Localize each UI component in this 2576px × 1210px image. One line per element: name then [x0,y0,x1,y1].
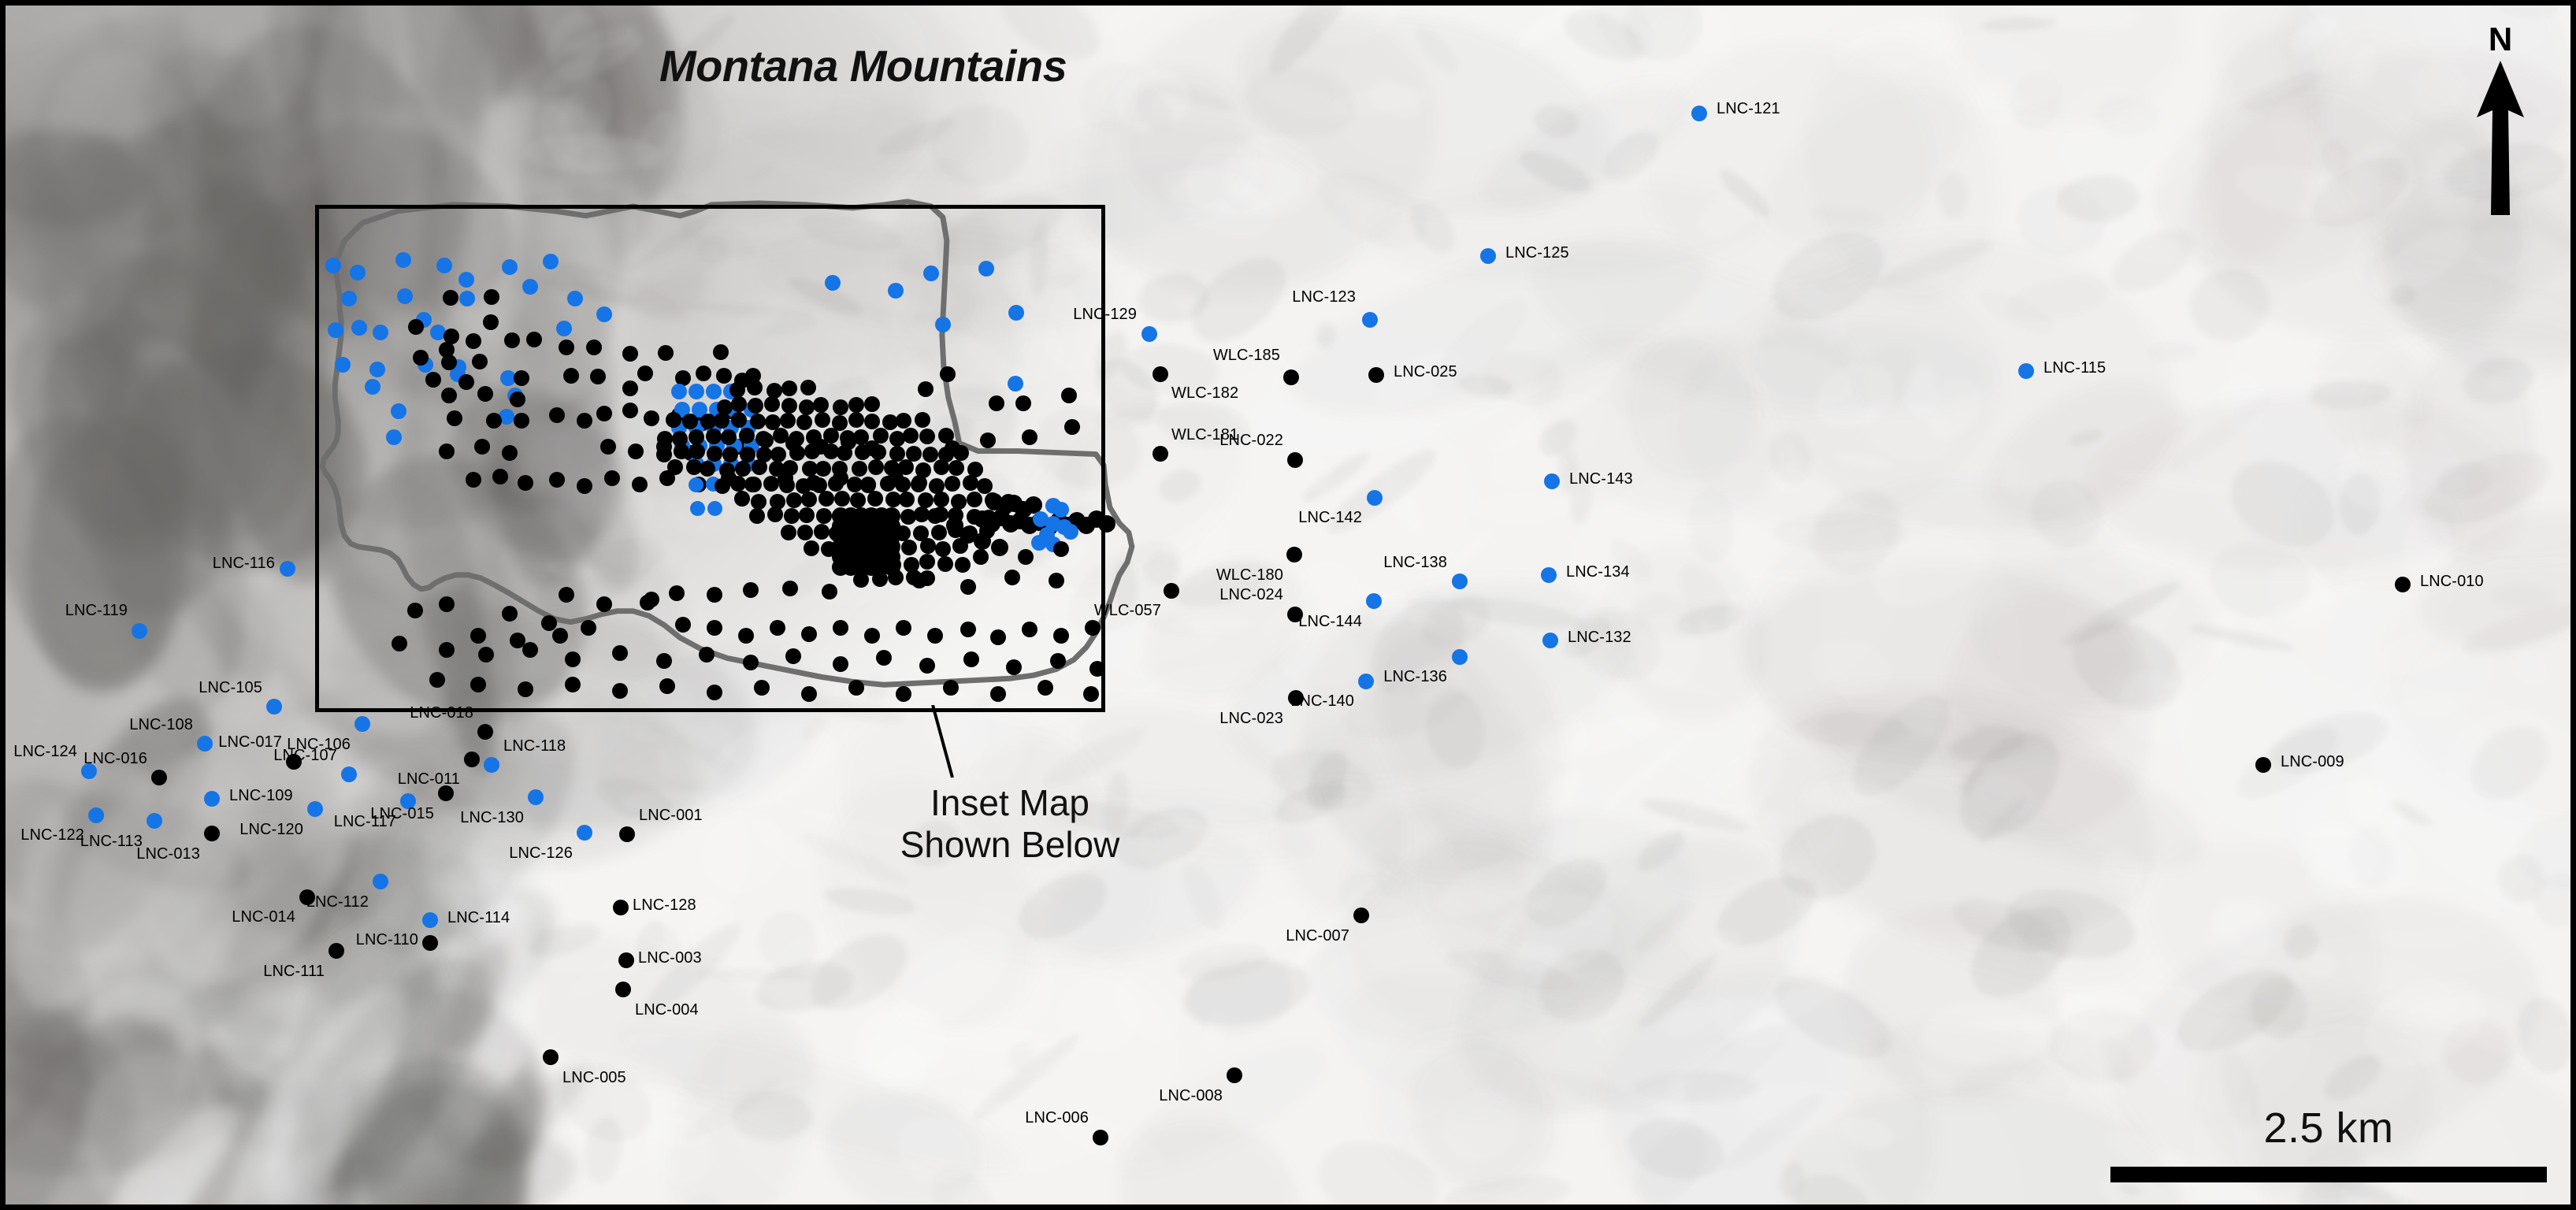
drill-collar-blue[interactable] [132,623,147,639]
drill-collar-black[interactable] [770,620,785,636]
drill-collar-black[interactable] [948,460,964,476]
drill-collar-blue[interactable] [341,291,357,306]
drill-collar-blue[interactable] [373,874,388,889]
drill-collar-black[interactable] [674,444,689,459]
drill-collar-black[interactable] [472,354,488,369]
drill-collar-black[interactable] [439,642,455,658]
drill-collar-black[interactable] [743,655,759,670]
drill-collar-black[interactable] [675,617,691,633]
drill-hole-label: LNC-108 [129,717,193,733]
drill-collar-black[interactable] [750,414,766,429]
drill-collar-black[interactable] [919,658,935,674]
drill-collar-black[interactable] [658,345,674,361]
drill-collar-black[interactable] [151,770,167,785]
drill-collar-black[interactable] [816,508,832,524]
drill-hole-label: LNC-121 [1717,101,1780,117]
drill-collar-black[interactable] [659,678,675,694]
scale-bar: 2.5 km [2110,1107,2547,1182]
drill-collar-blue[interactable] [502,259,518,275]
drill-collar-blue[interactable] [266,699,282,714]
drill-collar-black[interactable] [789,445,805,461]
drill-collar-black[interactable] [622,403,638,418]
drill-collar-blue[interactable] [422,912,438,928]
drill-collar-black[interactable] [407,603,423,618]
drill-collar-black[interactable] [815,461,831,477]
drill-collar-black[interactable] [700,461,715,477]
drill-collar-black[interactable] [990,629,1006,645]
drill-collar-black[interactable] [945,440,960,456]
drill-collar-black[interactable] [832,461,848,477]
drill-collar-blue[interactable] [1053,502,1069,518]
drill-collar-black[interactable] [880,510,896,525]
drill-collar-black[interactable] [943,680,959,696]
drill-collar-blue[interactable] [528,789,544,805]
drill-collar-black[interactable] [801,492,817,507]
drill-collar-black[interactable] [799,507,815,523]
drill-collar-black[interactable] [466,472,481,488]
drill-hole-label: LNC-110 [356,932,418,948]
drill-collar-blue[interactable] [88,807,104,823]
drill-hole-label: WLC-057 [1094,603,1161,618]
drill-collar-blue[interactable] [1362,312,1378,328]
north-arrow: N [2465,23,2536,228]
drill-collar-black[interactable] [612,683,628,699]
drill-collar-blue[interactable] [567,291,583,306]
drill-collar-black[interactable] [754,680,770,696]
drill-collar-black[interactable] [946,517,963,534]
drill-collar-black[interactable] [543,1049,559,1065]
drill-collar-blue[interactable] [307,801,323,817]
drill-collar-blue[interactable] [825,275,841,291]
drill-collar-black[interactable] [806,429,822,445]
drill-collar-blue[interactable] [2018,363,2034,379]
drill-collar-blue[interactable] [923,265,939,281]
drill-collar-black[interactable] [470,677,486,692]
drill-collar-black[interactable] [596,406,612,421]
drill-collar-black[interactable] [699,647,715,663]
drill-collar-black[interactable] [837,445,852,461]
drill-collar-black[interactable] [429,672,445,688]
drill-collar-blue[interactable] [386,429,402,445]
drill-collar-blue[interactable] [671,384,687,399]
drill-hole-label: LNC-025 [1394,364,1457,380]
drill-collar-black[interactable] [510,392,525,407]
drill-collar-black[interactable] [915,412,930,428]
drill-collar-black[interactable] [466,333,481,349]
drill-collar-black[interactable] [559,340,574,355]
drill-collar-blue[interactable] [689,384,704,399]
drill-collar-black[interactable] [801,686,817,702]
drill-collar-black[interactable] [813,397,829,413]
drill-collar-black[interactable] [781,525,796,540]
drill-collar-black[interactable] [477,724,493,740]
drill-collar-black[interactable] [637,366,653,381]
drill-collar-black[interactable] [1053,541,1069,557]
drill-collar-black[interactable] [1037,680,1053,696]
drill-collar-black[interactable] [789,431,804,447]
drill-collar-black[interactable] [739,428,755,444]
drill-collar-black[interactable] [876,650,892,666]
drill-collar-black[interactable] [852,461,867,477]
drill-collar-black[interactable] [522,642,538,658]
drill-collar-black[interactable] [767,507,783,522]
drill-collar-black[interactable] [818,491,834,507]
drill-collar-black[interactable] [740,447,755,462]
drill-collar-blue[interactable] [543,254,559,269]
drill-collar-black[interactable] [422,935,438,951]
drill-collar-black[interactable] [1004,570,1020,585]
drill-hole-label: LNC-140 [1290,693,1354,709]
drill-collar-black[interactable] [731,412,747,428]
drill-collar-black[interactable] [2395,577,2411,592]
drill-collar-black[interactable] [960,622,976,637]
drill-collar-black[interactable] [781,398,797,414]
drill-collar-black[interactable] [1286,547,1302,562]
drill-collar-black[interactable] [477,386,493,402]
drill-collar-black[interactable] [600,439,616,455]
drill-collar-black[interactable] [934,492,949,507]
drill-collar-black[interactable] [1227,1067,1242,1083]
drill-collar-black[interactable] [716,368,732,384]
drill-collar-black[interactable] [927,508,943,524]
drill-collar-blue[interactable] [458,272,474,288]
drill-collar-black[interactable] [1022,429,1037,445]
drill-collar-blue[interactable] [328,322,343,338]
drill-collar-black[interactable] [622,380,638,396]
drill-collar-black[interactable] [940,366,956,382]
drill-collar-blue[interactable] [397,288,413,304]
drill-collar-black[interactable] [989,395,1004,411]
drill-collar-blue[interactable] [689,477,703,492]
drill-collar-black[interactable] [781,380,797,396]
drill-collar-black[interactable] [640,595,655,611]
drill-collar-black[interactable] [615,982,631,997]
drill-collar-black[interactable] [549,472,565,488]
drill-collar-blue[interactable] [522,279,538,295]
drill-collar-blue[interactable] [1691,106,1707,121]
drill-collar-black[interactable] [898,459,914,475]
drill-collar-blue[interactable] [484,757,499,773]
drill-collar-black[interactable] [613,900,629,915]
drill-collar-blue[interactable] [935,317,951,332]
drill-collar-black[interactable] [833,399,848,415]
drill-collar-black[interactable] [656,653,672,669]
drill-collar-black[interactable] [833,620,848,636]
drill-collar-blue[interactable] [197,736,213,752]
drill-collar-blue[interactable] [978,261,994,277]
drill-collar-blue[interactable] [1367,490,1383,506]
drill-hole-label: LNC-142 [1298,510,1362,525]
drill-collar-blue[interactable] [706,384,722,399]
drill-collar-black[interactable] [502,606,518,622]
drill-collar-blue[interactable] [1452,649,1468,665]
drill-collar-black[interactable] [1018,549,1034,565]
drill-collar-blue[interactable] [577,825,592,841]
drill-collar-black[interactable] [1085,620,1101,636]
drill-collar-blue[interactable] [690,501,705,516]
drill-collar-blue[interactable] [1544,473,1560,489]
drill-collar-black[interactable] [474,439,490,455]
drill-collar-blue[interactable] [373,325,388,340]
drill-collar-black[interactable] [1089,661,1105,677]
drill-collar-blue[interactable] [395,252,411,268]
drill-collar-black[interactable] [1064,419,1080,435]
drill-collar-blue[interactable] [350,265,366,280]
drill-collar-blue[interactable] [1366,593,1382,609]
drill-collar-black[interactable] [748,398,763,414]
drill-collar-black[interactable] [667,459,683,475]
drill-collar-black[interactable] [447,410,462,426]
drill-collar-black[interactable] [713,344,729,360]
drill-collar-black[interactable] [1006,659,1022,675]
drill-collar-black[interactable] [604,470,620,486]
drill-collar-black[interactable] [864,628,880,644]
drill-collar-black[interactable] [707,446,722,462]
drill-collar-black[interactable] [1083,686,1099,702]
drill-collar-black[interactable] [927,628,943,644]
drill-collar-black[interactable] [596,596,612,612]
drill-collar-black[interactable] [484,289,499,305]
drill-collar-black[interactable] [743,582,759,598]
drill-collar-black[interactable] [518,475,533,491]
drill-collar-blue[interactable] [1141,326,1157,342]
drill-collar-black[interactable] [1022,622,1037,637]
drill-collar-black[interactable] [1153,366,1168,382]
drill-collar-black[interactable] [797,525,813,540]
drill-collar-black[interactable] [920,538,936,554]
drill-collar-black[interactable] [991,539,1008,556]
drill-collar-blue[interactable] [1031,535,1047,551]
drill-collar-black[interactable] [502,445,518,461]
drill-collar-black[interactable] [486,413,502,429]
drill-collar-black[interactable] [1015,395,1031,411]
drill-collar-black[interactable] [833,656,848,672]
drill-collar-blue[interactable] [204,791,220,807]
drill-collar-black[interactable] [799,399,815,415]
drill-collar-black[interactable] [413,350,429,366]
drill-collar-black[interactable] [873,428,889,444]
drill-collar-blue[interactable] [1542,633,1558,648]
drill-collar-black[interactable] [689,429,704,445]
drill-collar-black[interactable] [864,414,880,429]
drill-collar-black[interactable] [785,648,801,664]
drill-collar-black[interactable] [696,366,711,381]
drill-hole-label: LNC-018 [410,705,473,721]
drill-collar-black[interactable] [552,628,568,644]
drill-collar-blue[interactable] [888,283,904,299]
drill-collar-blue[interactable] [1541,567,1557,583]
drill-collar-black[interactable] [973,549,989,565]
drill-collar-black[interactable] [577,413,592,429]
drill-collar-black[interactable] [782,581,798,596]
inset-map-callout: Inset Map Shown Below [900,782,1120,866]
drill-collar-blue[interactable] [1480,248,1496,264]
drill-collar-black[interactable] [782,460,798,476]
drill-collar-black[interactable] [565,677,581,692]
drill-collar-black[interactable] [559,587,574,603]
drill-collar-black[interactable] [1098,515,1115,533]
drill-collar-blue[interactable] [369,362,385,377]
drill-collar-black[interactable] [744,477,760,492]
drill-collar-black[interactable] [963,651,979,667]
drill-collar-black[interactable] [669,585,685,601]
drill-collar-black[interactable] [1283,369,1299,385]
drill-collar-black[interactable] [1093,1130,1108,1145]
drill-collar-black[interactable] [814,524,830,540]
drill-collar-black[interactable] [867,491,883,507]
drill-collar-blue[interactable] [707,501,722,516]
drill-collar-black[interactable] [1061,388,1077,403]
drill-collar-black[interactable] [734,491,750,507]
drill-collar-blue[interactable] [1452,573,1468,589]
drill-collar-black[interactable] [204,826,220,841]
drill-collar-black[interactable] [563,368,579,384]
drill-collar-black[interactable] [896,620,911,636]
drill-collar-blue[interactable] [280,561,295,577]
drill-collar-black[interactable] [752,459,767,475]
drill-collar-black[interactable] [980,432,996,448]
drill-collar-black[interactable] [439,444,455,459]
drill-collar-blue[interactable] [325,258,341,273]
drill-collar-blue[interactable] [556,321,572,336]
drill-hole-label: LNC-001 [639,807,703,823]
drill-collar-blue[interactable] [1008,376,1023,392]
drill-collar-black[interactable] [439,596,455,612]
drill-collar-black[interactable] [612,645,628,661]
drill-collar-black[interactable] [764,396,780,412]
drill-collar-blue[interactable] [1358,674,1374,689]
drill-collar-black[interactable] [478,647,494,663]
drill-collar-black[interactable] [745,368,761,384]
drill-collar-black[interactable] [967,492,982,507]
drill-collar-black[interactable] [408,319,424,335]
drill-hole-label: LNC-013 [136,846,200,862]
drill-collar-black[interactable] [1368,367,1384,383]
drill-collar-black[interactable] [715,478,730,494]
drill-collar-blue[interactable] [365,379,380,395]
drill-collar-black[interactable] [632,477,648,492]
drill-collar-black[interactable] [801,626,817,642]
drill-collar-black[interactable] [779,477,795,493]
drill-collar-black[interactable] [934,459,949,475]
drill-collar-black[interactable] [773,428,789,444]
drill-hole-label: LNC-114 [447,910,510,926]
drill-collar-black[interactable] [780,413,796,429]
drill-collar-black[interactable] [884,460,900,476]
drill-collar-blue[interactable] [436,258,452,273]
scale-bar-label: 2.5 km [2110,1107,2547,1149]
drill-collar-black[interactable] [896,686,911,702]
drill-collar-black[interactable] [565,651,581,667]
drill-collar-blue[interactable] [147,813,162,829]
drill-collar-black[interactable] [945,476,960,492]
drill-collar-black[interactable] [1153,446,1168,462]
drill-collar-black[interactable] [918,381,934,397]
drill-collar-black[interactable] [883,559,900,576]
drill-collar-black[interactable] [590,369,606,384]
drill-collar-black[interactable] [577,478,592,494]
drill-hole-label: LNC-005 [562,1070,626,1086]
inset-callout-line1: Inset Map [900,782,1120,824]
drill-collar-black[interactable] [622,346,638,362]
drill-collar-blue[interactable] [354,716,370,732]
drill-collar-black[interactable] [1287,452,1303,468]
drill-hole-label: LNC-006 [1025,1110,1089,1126]
drill-collar-black[interactable] [619,826,635,842]
drill-collar-black[interactable] [328,943,344,959]
drill-collar-black[interactable] [392,636,407,651]
drill-collar-blue[interactable] [459,291,475,306]
drill-collar-black[interactable] [848,680,864,696]
drill-collar-black[interactable] [714,413,729,429]
drill-collar-black[interactable] [1049,573,1064,588]
drill-collar-black[interactable] [526,332,542,347]
drill-collar-blue[interactable] [351,320,367,336]
drill-collar-black[interactable] [483,314,499,330]
drill-collar-blue[interactable] [391,403,406,419]
drill-collar-black[interactable] [492,469,508,484]
drill-collar-black[interactable] [2255,757,2271,773]
drill-collar-black[interactable] [784,508,800,524]
drill-collar-black[interactable] [458,374,474,390]
drill-collar-black[interactable] [464,752,480,767]
drill-collar-black[interactable] [1164,583,1179,599]
drill-collar-black[interactable] [425,372,441,388]
drill-collar-black[interactable] [644,410,659,426]
drill-collar-black[interactable] [899,492,915,507]
drill-collar-black[interactable] [618,952,634,968]
drill-collar-black[interactable] [514,413,529,429]
drill-collar-black[interactable] [504,332,520,348]
drill-collar-black[interactable] [911,573,927,588]
drill-collar-black[interactable] [1050,653,1066,669]
drill-collar-black[interactable] [441,354,457,370]
drill-collar-black[interactable] [657,431,673,447]
drill-collar-black[interactable] [586,340,602,355]
drill-collar-blue[interactable] [1008,305,1024,321]
drill-collar-black[interactable] [963,475,978,491]
drill-collar-black[interactable] [911,477,926,492]
drill-hole-label: LNC-126 [509,845,573,861]
drill-collar-black[interactable] [1053,628,1069,644]
drill-collar-blue[interactable] [335,357,351,373]
drill-collar-black[interactable] [438,785,454,801]
drill-collar-black[interactable] [707,620,722,636]
drill-collar-black[interactable] [707,685,722,700]
drill-collar-black[interactable] [880,476,896,492]
drill-collar-black[interactable] [864,396,880,412]
drill-collar-black[interactable] [443,290,458,306]
drill-collar-black[interactable] [549,407,565,423]
drill-collar-blue[interactable] [341,766,357,782]
drill-collar-black[interactable] [1353,907,1369,923]
drill-collar-black[interactable] [822,584,837,599]
drill-collar-black[interactable] [470,628,486,644]
drill-collar-black[interactable] [518,681,533,697]
drill-collar-black[interactable] [990,686,1006,702]
drill-collar-black[interactable] [960,579,976,595]
drill-collar-blue[interactable] [596,306,612,322]
drill-collar-black[interactable] [514,370,529,386]
drill-collar-black[interactable] [707,587,722,603]
drill-collar-black[interactable] [738,628,754,644]
drill-collar-blue[interactable] [1063,524,1078,540]
drill-hole-label: LNC-122 [20,827,84,843]
drill-collar-black[interactable] [922,447,938,462]
drill-collar-black[interactable] [628,444,644,459]
drill-collar-black[interactable] [441,388,457,403]
drill-collar-black[interactable] [581,620,596,636]
